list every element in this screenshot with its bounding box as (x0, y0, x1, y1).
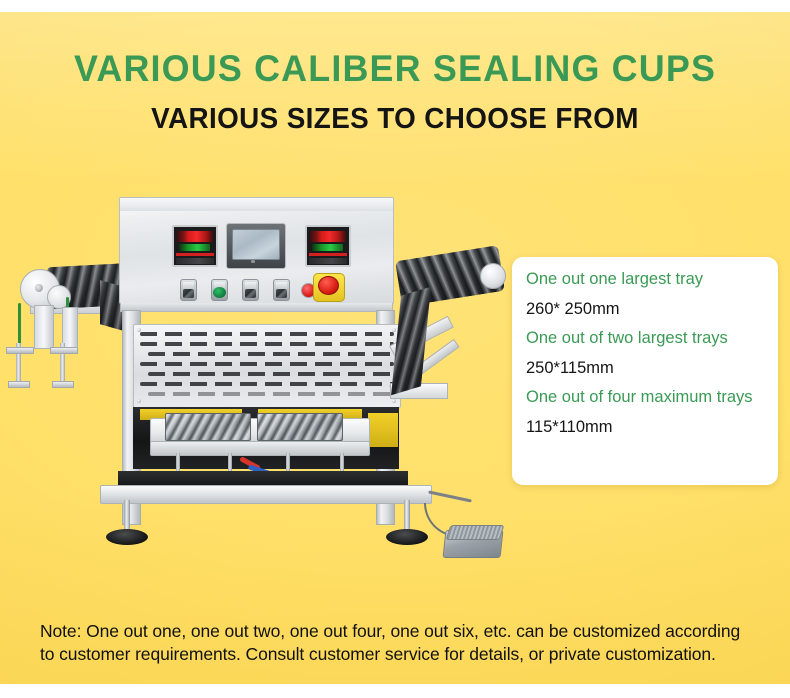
pid-controller-left[interactable] (172, 225, 218, 267)
pid-red-bar (176, 253, 214, 256)
yellow-guard-bar (368, 413, 398, 447)
leveling-foot-pad (106, 529, 148, 545)
switch-label-plate (183, 282, 194, 289)
roll-hub (35, 284, 43, 292)
panel-top-band (120, 198, 393, 211)
rotary-switch-3[interactable] (273, 279, 290, 301)
pid-controller-right[interactable] (305, 225, 351, 267)
spec-value: 115*110mm (526, 419, 778, 436)
machine-illustration (0, 185, 530, 585)
roll-mount-bracket (34, 305, 54, 349)
leveling-foot-stem (404, 500, 410, 532)
power-cable (428, 490, 472, 502)
rotary-switch-1[interactable] (180, 279, 197, 301)
machine-base-plate (100, 485, 432, 504)
leveling-foot-pad (386, 529, 428, 545)
pid-red-digits (310, 231, 346, 242)
switch-knob[interactable] (276, 289, 287, 298)
pid-button-row[interactable] (176, 258, 214, 264)
push-button-cap[interactable] (213, 287, 226, 298)
spec-heading: One out one largest tray (526, 271, 778, 288)
note-text: Note: One out one, one out two, one out … (40, 620, 758, 667)
spec-heading: One out of four maximum trays (526, 389, 778, 406)
rod-clamp (6, 347, 34, 354)
pid-red-bar (309, 253, 347, 256)
sealed-tray (165, 413, 251, 441)
rod-clamp (52, 381, 74, 388)
pid-green-digits (312, 244, 343, 251)
leveling-foot-stem (124, 500, 130, 532)
sealed-tray (257, 413, 343, 441)
rotary-switch-2[interactable] (242, 279, 259, 301)
switch-knob[interactable] (245, 289, 256, 298)
green-push-button[interactable] (211, 279, 228, 301)
specification-card: One out one largest tray 260* 250mm One … (512, 257, 778, 485)
rod-clamp (50, 347, 78, 354)
pid-button-row[interactable] (309, 258, 347, 264)
switch-label-plate (276, 282, 287, 289)
pid-green-digits (179, 244, 210, 251)
page-title: VARIOUS CALIBER SEALING CUPS (12, 48, 778, 90)
take-up-hub (480, 263, 506, 289)
lcd-screen-surface[interactable] (232, 229, 280, 260)
spec-heading: One out of two largest trays (526, 330, 778, 347)
ventilation-panel (133, 324, 401, 408)
switch-knob[interactable] (183, 289, 194, 298)
emergency-stop-button[interactable] (318, 276, 339, 295)
foot-pedal-tread[interactable] (446, 525, 505, 540)
switch-label-plate (245, 282, 256, 289)
page-subtitle: VARIOUS SIZES TO CHOOSE FROM (16, 103, 774, 136)
pid-red-digits (177, 231, 213, 242)
rod-clamp (8, 381, 30, 388)
lcd-indicator-dot (251, 260, 255, 263)
film-web-right (391, 287, 431, 395)
spec-value: 250*115mm (526, 360, 778, 377)
spec-value: 260* 250mm (526, 301, 778, 318)
product-poster: VARIOUS CALIBER SEALING CUPS VARIOUS SIZ… (0, 0, 790, 698)
